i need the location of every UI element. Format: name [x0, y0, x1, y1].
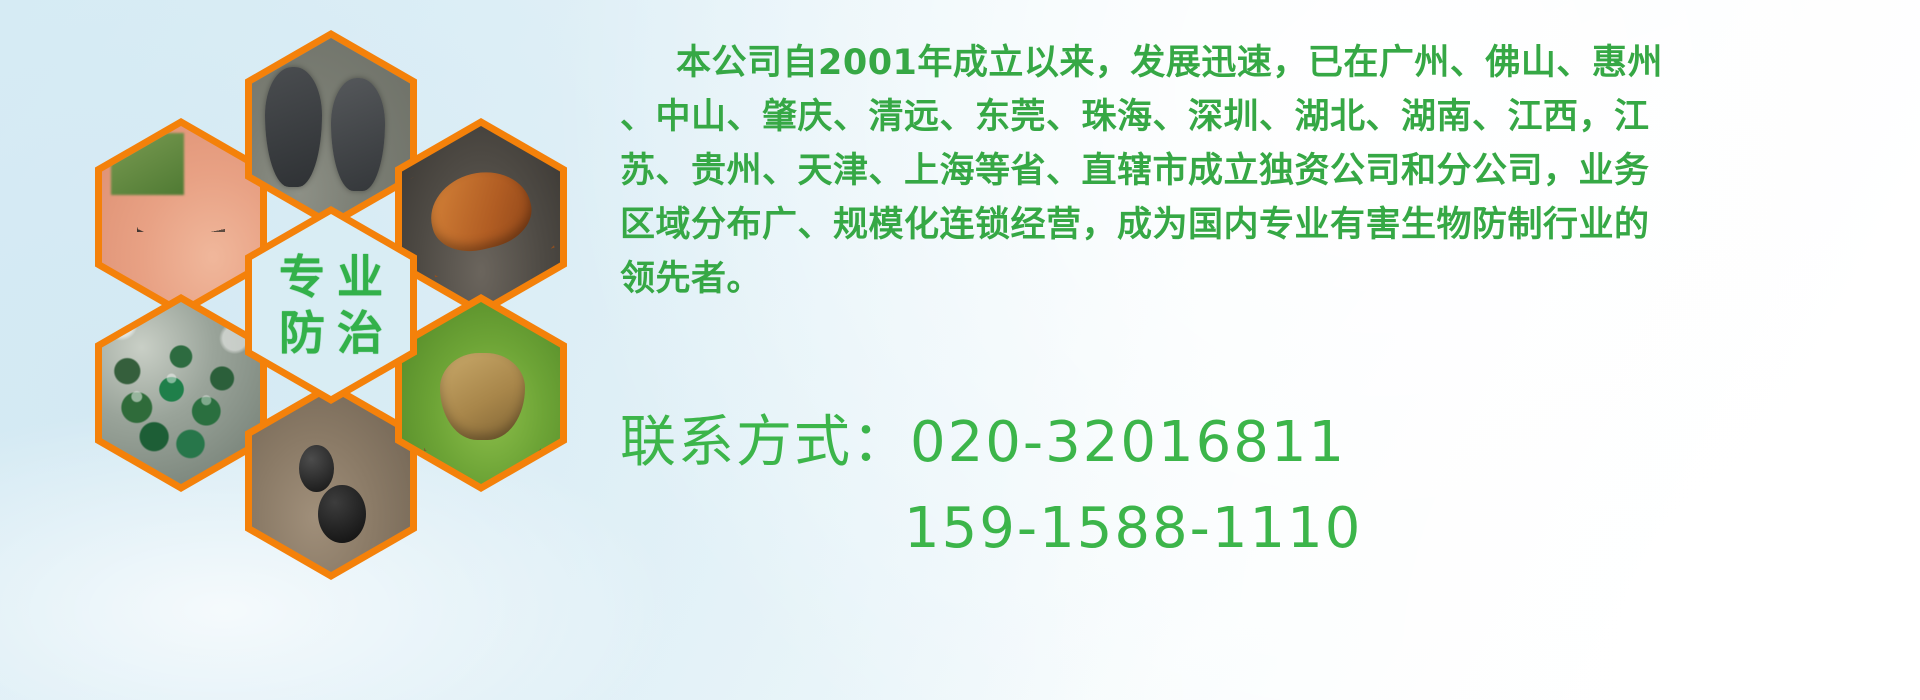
description-line: 、中山、肇庆、清远、东莞、珠海、深圳、湖北、湖南、江西，江	[620, 90, 1880, 144]
hex-cell-cockroach	[395, 118, 567, 316]
description-line: 领先者。	[620, 252, 1880, 306]
description-line: 苏、贵州、天津、上海等省、直辖市成立独资公司和分公司，业务	[620, 144, 1880, 198]
contact-block: 联系方式：020-32016811 159-1588-1110	[620, 400, 1880, 572]
contact-phone-secondary[interactable]: 159-1588-1110	[620, 486, 1880, 572]
contact-phone-primary[interactable]: 联系方式：020-32016811	[620, 400, 1880, 486]
mosquito-icon	[102, 126, 260, 308]
cockroach-icon	[402, 126, 560, 308]
hex-cell-flies	[95, 294, 267, 492]
honeycomb-collage: 专业 防治	[95, 8, 595, 568]
hex-cell-mosquito	[95, 118, 267, 316]
rat-icon	[252, 38, 410, 220]
company-description: 本公司自2001年成立以来，发展迅速，已在广州、佛山、惠州 、中山、肇庆、清远、…	[620, 36, 1880, 306]
fly-icon	[102, 302, 260, 484]
ant-icon	[252, 390, 410, 572]
logo-line-2: 防治	[267, 305, 395, 361]
logo-line-1: 专业	[267, 249, 395, 305]
hex-cell-stink-bug	[395, 294, 567, 492]
stink-bug-icon	[402, 302, 560, 484]
description-line: 区域分布广、规模化连锁经营，成为国内专业有害生物防制行业的	[620, 198, 1880, 252]
hex-cell-logo-text: 专业 防治	[245, 206, 417, 404]
description-line: 本公司自2001年成立以来，发展迅速，已在广州、佛山、惠州	[620, 36, 1880, 90]
hex-cell-rats	[245, 30, 417, 228]
promo-banner: 专业 防治 本公司自2001年成立以来，发展迅速，已在广州、佛山、惠州 、中山、…	[0, 0, 1920, 700]
hex-cell-ant	[245, 382, 417, 580]
